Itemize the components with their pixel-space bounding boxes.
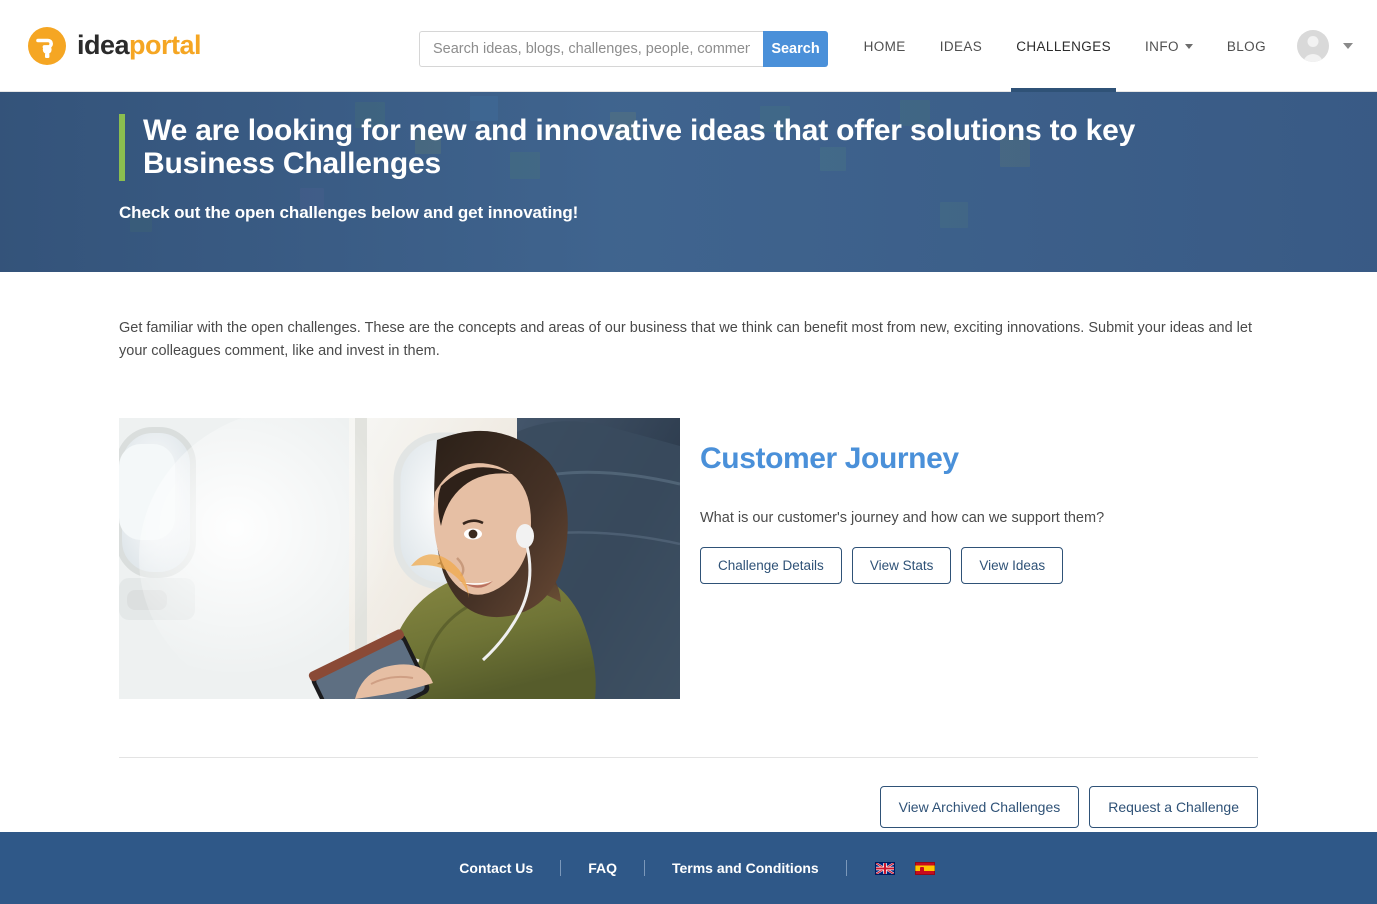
footer-link-faq[interactable]: FAQ: [561, 860, 644, 876]
site-logo[interactable]: ideaportal: [28, 27, 201, 65]
search-input[interactable]: [419, 31, 763, 67]
hero-content: We are looking for new and innovative id…: [119, 114, 1257, 223]
spanish-flag-icon[interactable]: [915, 862, 935, 875]
site-footer: Contact Us FAQ Terms and Conditions: [0, 832, 1377, 904]
nav-item-ideas[interactable]: IDEAS: [923, 0, 1000, 92]
footer-link-contact-us[interactable]: Contact Us: [432, 860, 560, 876]
section-divider: [119, 757, 1258, 758]
logo-word-portal: portal: [129, 30, 201, 60]
hero-banner: We are looking for new and innovative id…: [0, 92, 1377, 272]
nav-item-info-label: INFO: [1145, 39, 1179, 54]
user-avatar-icon[interactable]: [1297, 30, 1329, 62]
english-uk-flag-icon[interactable]: [875, 862, 895, 875]
footer-separator: [846, 860, 847, 876]
challenge-body: Customer Journey What is our customer's …: [700, 418, 1104, 584]
avatar-head: [1308, 36, 1319, 47]
challenge-details-button[interactable]: Challenge Details: [700, 547, 842, 584]
search-button[interactable]: Search: [763, 31, 828, 67]
hero-accent-bar: [119, 114, 125, 181]
chevron-down-icon[interactable]: [1343, 43, 1353, 49]
footer-link-terms-and-conditions[interactable]: Terms and Conditions: [645, 860, 846, 876]
language-switcher: [865, 862, 945, 875]
view-stats-button[interactable]: View Stats: [852, 547, 952, 584]
view-ideas-button[interactable]: View Ideas: [961, 547, 1063, 584]
main-content: Get familiar with the open challenges. T…: [0, 272, 1377, 828]
challenge-image: [119, 418, 680, 699]
view-archived-challenges-button[interactable]: View Archived Challenges: [880, 786, 1080, 828]
challenge-card: Customer Journey What is our customer's …: [119, 418, 1258, 699]
nav-item-blog[interactable]: BLOG: [1210, 0, 1283, 92]
challenge-title: Customer Journey: [700, 442, 1104, 476]
bottom-actions: View Archived Challenges Request a Chall…: [119, 786, 1258, 828]
logo-wordmark: ideaportal: [77, 30, 201, 61]
logo-word-idea: idea: [77, 30, 129, 60]
account-menu[interactable]: [1283, 30, 1353, 62]
nav-item-challenges[interactable]: CHALLENGES: [999, 0, 1128, 92]
hero-subtitle: Check out the open challenges below and …: [119, 203, 1257, 223]
avatar-body: [1303, 54, 1323, 62]
nav-item-home[interactable]: HOME: [847, 0, 923, 92]
nav-item-info[interactable]: INFO: [1128, 0, 1210, 92]
chevron-down-icon: [1185, 44, 1193, 49]
search-bar: Search: [419, 31, 828, 67]
hero-title: We are looking for new and innovative id…: [143, 114, 1203, 181]
challenge-description: What is our customer's journey and how c…: [700, 510, 1104, 526]
request-a-challenge-button[interactable]: Request a Challenge: [1089, 786, 1258, 828]
site-header: ideaportal Search HOME IDEAS CHALLENGES …: [0, 0, 1377, 92]
challenge-actions: Challenge Details View Stats View Ideas: [700, 547, 1104, 584]
lightbulb-key-icon: [28, 27, 66, 65]
intro-paragraph: Get familiar with the open challenges. T…: [119, 272, 1258, 364]
main-navigation: HOME IDEAS CHALLENGES INFO BLOG: [847, 0, 1353, 92]
